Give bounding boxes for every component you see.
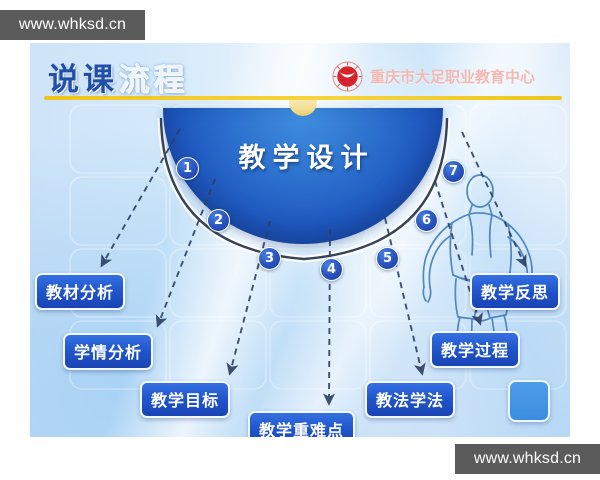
step-node-5-number: 5 <box>383 251 392 266</box>
step-node-4-number: 4 <box>327 262 336 277</box>
step-node-1-number: 1 <box>183 161 192 176</box>
flow-label-jiaocai-fenxi[interactable]: 教材分析 <box>35 273 125 310</box>
step-node-4[interactable]: 4 <box>320 258 343 281</box>
slide-title: 说课流程 <box>48 54 188 99</box>
step-node-6[interactable]: 6 <box>415 209 438 232</box>
step-node-2-number: 2 <box>214 213 223 228</box>
step-node-3-number: 3 <box>265 251 274 266</box>
watermark-top: www.whksd.cn <box>0 10 145 40</box>
step-node-5[interactable]: 5 <box>376 247 399 270</box>
step-node-7-number: 7 <box>449 164 458 179</box>
flow-label-jiaoxue-guocheng[interactable]: 教学过程 <box>430 331 520 368</box>
dome-shape <box>163 108 443 244</box>
flow-label-jiaofa-xuefa[interactable]: 教法学法 <box>365 381 455 418</box>
central-dome: 教学设计 <box>163 100 443 245</box>
step-node-6-number: 6 <box>422 213 431 228</box>
step-node-7[interactable]: 7 <box>442 160 465 183</box>
school-crest-icon <box>332 61 363 92</box>
organization-name: 重庆市大足职业教育中心 <box>370 66 535 87</box>
dome-label: 教学设计 <box>163 136 443 175</box>
watermark-bottom: www.whksd.cn <box>455 444 600 474</box>
title-part-pale: 流程 <box>118 62 188 98</box>
flow-label-jiaoxue-mubiao[interactable]: 教学目标 <box>140 381 230 418</box>
title-part-blue: 说课 <box>48 62 118 98</box>
organization-logo: 重庆市大足职业教育中心 <box>332 61 535 92</box>
step-node-2[interactable]: 2 <box>207 209 230 232</box>
step-node-3[interactable]: 3 <box>258 247 281 270</box>
flow-label-zhongnandian[interactable]: 教学重难点 <box>248 411 355 437</box>
slide-canvas: 说课流程 重庆市大足职业教育中心 <box>30 43 570 437</box>
flow-label-jiaoxue-fansi[interactable]: 教学反思 <box>470 273 560 310</box>
step-node-1[interactable]: 1 <box>176 157 199 180</box>
empty-blue-tile[interactable] <box>508 380 550 422</box>
flow-label-xueqing-fenxi[interactable]: 学情分析 <box>63 333 153 370</box>
